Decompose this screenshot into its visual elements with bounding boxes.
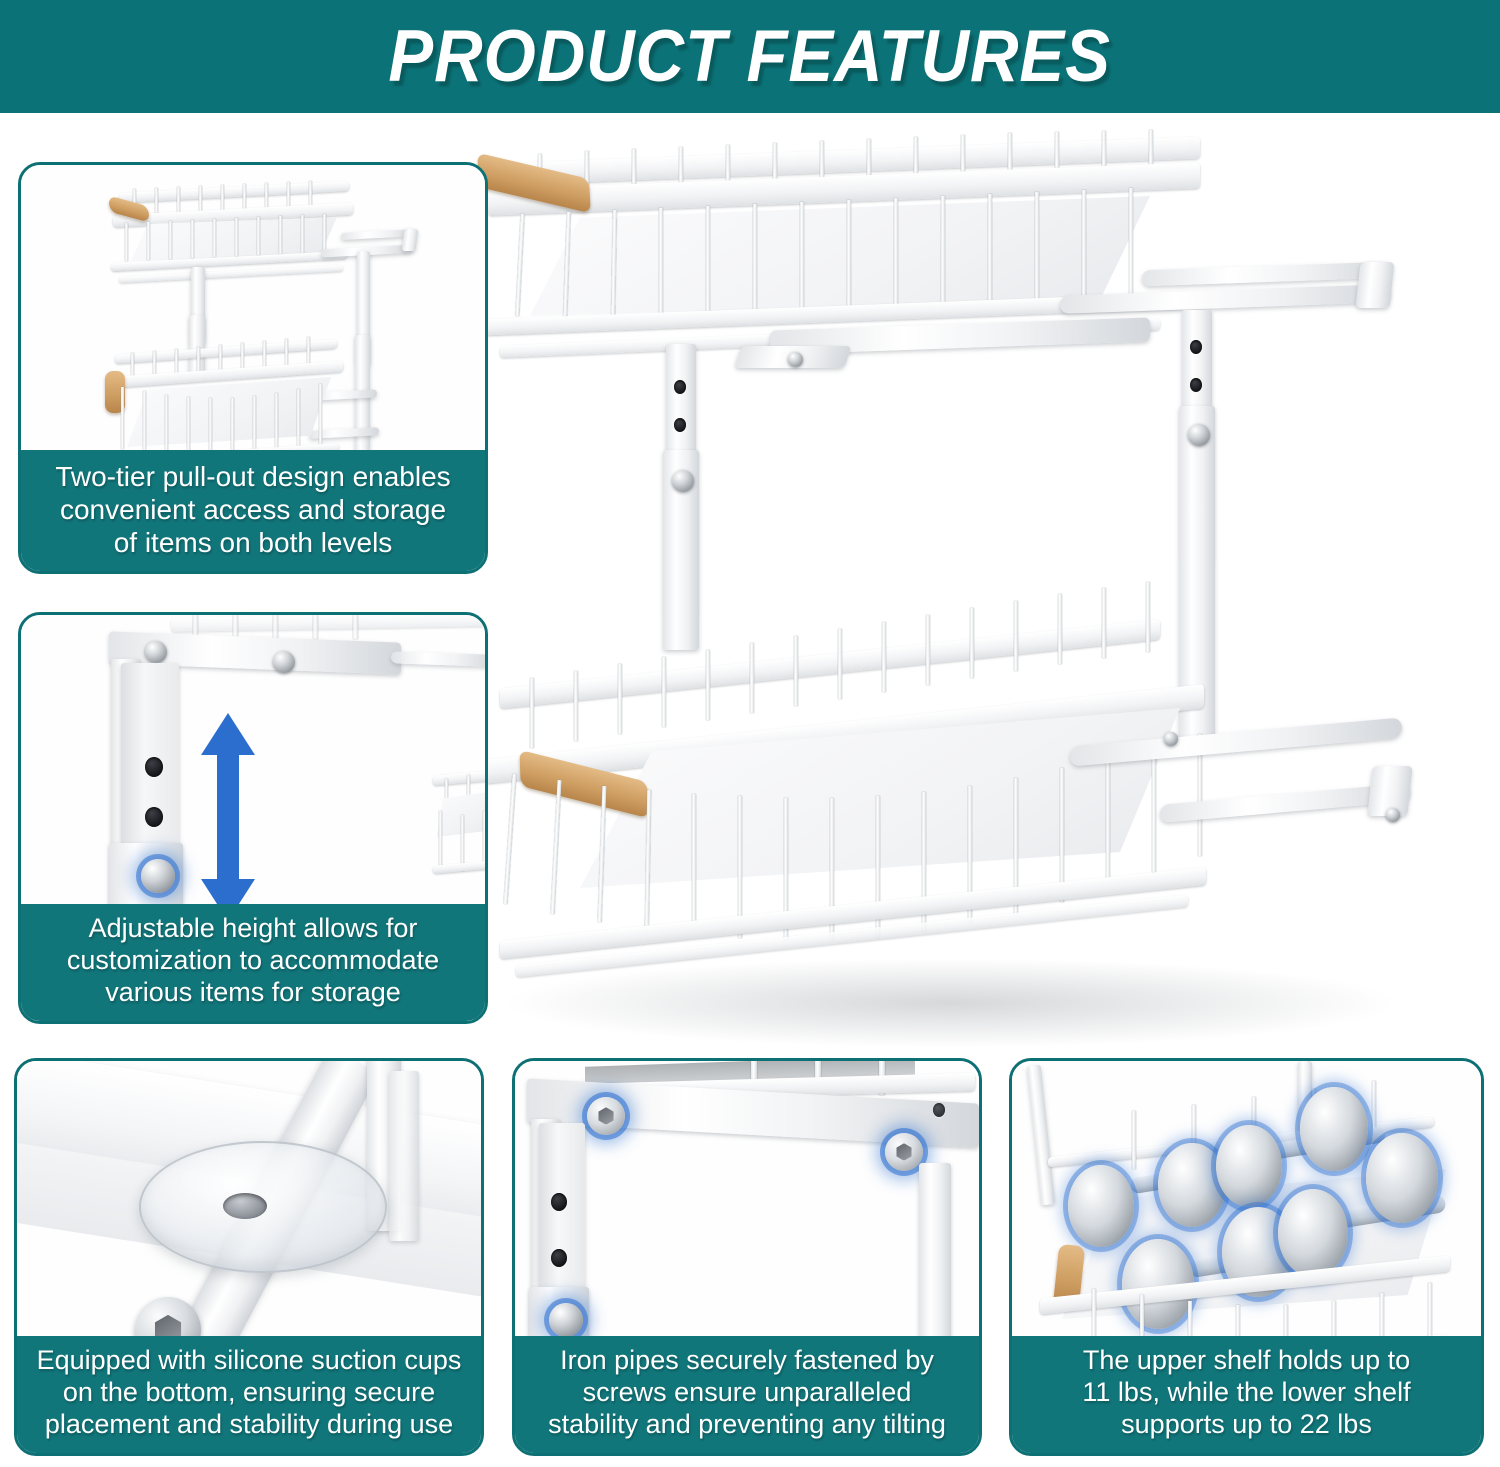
upper-slide-rail (1060, 284, 1390, 314)
page-title: PRODUCT FEATURES (389, 15, 1111, 98)
right-frame-post (919, 1163, 951, 1336)
feature-caption-suction-cups: Equipped with silicone suction cups on t… (17, 1336, 481, 1453)
feature-image-two-tier-pullout (21, 165, 485, 450)
feature-image-adjustable-height (21, 615, 485, 904)
frame-knob (549, 1303, 583, 1336)
feature-caption-iron-pipes: Iron pipes securely fastened by screws e… (515, 1336, 979, 1453)
left-post-knob (672, 470, 694, 492)
right-post-knob (1188, 424, 1210, 446)
adjustment-knob (141, 859, 175, 893)
product-features-infographic: PRODUCT FEATURES (0, 0, 1500, 1467)
hex-screw-left (587, 1097, 625, 1135)
lower-shelf-deck (580, 708, 1180, 888)
roller-right (273, 651, 295, 673)
feature-caption-adjustable-height: Adjustable height allows for customizati… (21, 904, 485, 1021)
feature-image-weight-capacity (1012, 1061, 1481, 1336)
hero-product-image (470, 118, 1500, 1048)
header-banner: PRODUCT FEATURES (0, 0, 1500, 113)
feature-panel-adjustable-height: Adjustable height allows for customizati… (18, 612, 488, 1024)
feature-panel-suction-cups: Equipped with silicone suction cups on t… (14, 1058, 484, 1456)
feature-panel-iron-pipes: Iron pipes securely fastened by screws e… (512, 1058, 982, 1456)
feature-panel-two-tier-pullout: Two-tier pull-out design enables conveni… (18, 162, 488, 574)
dumbbell-plate (1068, 1165, 1134, 1247)
height-adjust-arrow (199, 711, 257, 904)
feature-caption-weight-capacity: The upper shelf holds up to 11 lbs, whil… (1012, 1336, 1481, 1453)
hex-screw (135, 1297, 201, 1336)
adjust-hole-1 (145, 757, 163, 777)
hex-screw-right (885, 1133, 923, 1171)
feature-image-iron-pipes (515, 1061, 979, 1336)
feature-caption-two-tier-pullout: Two-tier pull-out design enables conveni… (21, 450, 485, 571)
adjust-hole-2 (145, 807, 163, 827)
roller-left (145, 641, 167, 663)
feature-panel-weight-capacity: The upper shelf holds up to 11 lbs, whil… (1009, 1058, 1484, 1456)
feature-image-suction-cups (17, 1061, 481, 1336)
